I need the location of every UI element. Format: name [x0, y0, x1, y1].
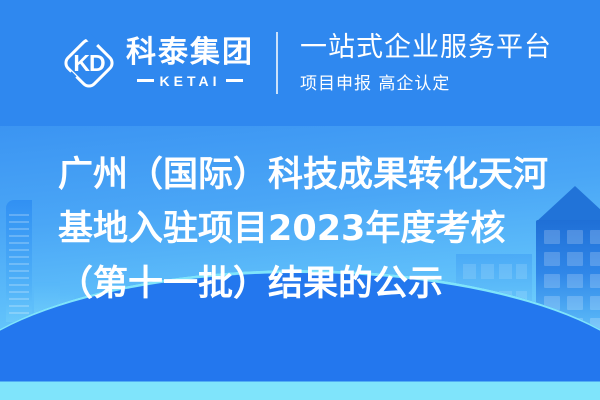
window — [567, 274, 583, 288]
banner-header: KD 科泰集团 KETAI 一站式企业服务平台 项目申报 高企认定 — [0, 0, 600, 126]
window — [590, 296, 600, 310]
building-left-tower-windows — [9, 214, 29, 316]
brand-logo[interactable]: KD 科泰集团 KETAI — [62, 36, 254, 90]
window — [567, 230, 583, 244]
ketai-diamond-logo-icon: KD — [62, 36, 116, 90]
window — [590, 274, 600, 288]
header-divider — [276, 32, 278, 94]
company-name-en: KETAI — [160, 73, 221, 89]
tagline-sub: 项目申报 高企认定 — [300, 69, 552, 94]
dash-left-icon — [137, 79, 154, 82]
announcement-banner: KD 科泰集团 KETAI 一站式企业服务平台 项目申报 高企认定 广州（国际）… — [0, 0, 600, 400]
window — [567, 296, 583, 310]
building-left-tower — [6, 200, 32, 322]
header-tagline: 一站式企业服务平台 项目申报 高企认定 — [300, 32, 552, 93]
company-name-en-row: KETAI — [126, 73, 254, 89]
brand-logo-text: 科泰集团 KETAI — [126, 37, 254, 89]
window — [590, 230, 600, 244]
window — [590, 252, 600, 266]
window — [567, 252, 583, 266]
tagline-main: 一站式企业服务平台 — [300, 32, 552, 63]
page-title: 广州（国际）科技成果转化天河基地入驻项目2023年度考核（第十一批）结果的公示 — [58, 148, 568, 311]
company-name-cn: 科泰集团 — [126, 37, 254, 69]
dash-right-icon — [226, 79, 243, 82]
logo-monogram: KD — [62, 36, 116, 90]
